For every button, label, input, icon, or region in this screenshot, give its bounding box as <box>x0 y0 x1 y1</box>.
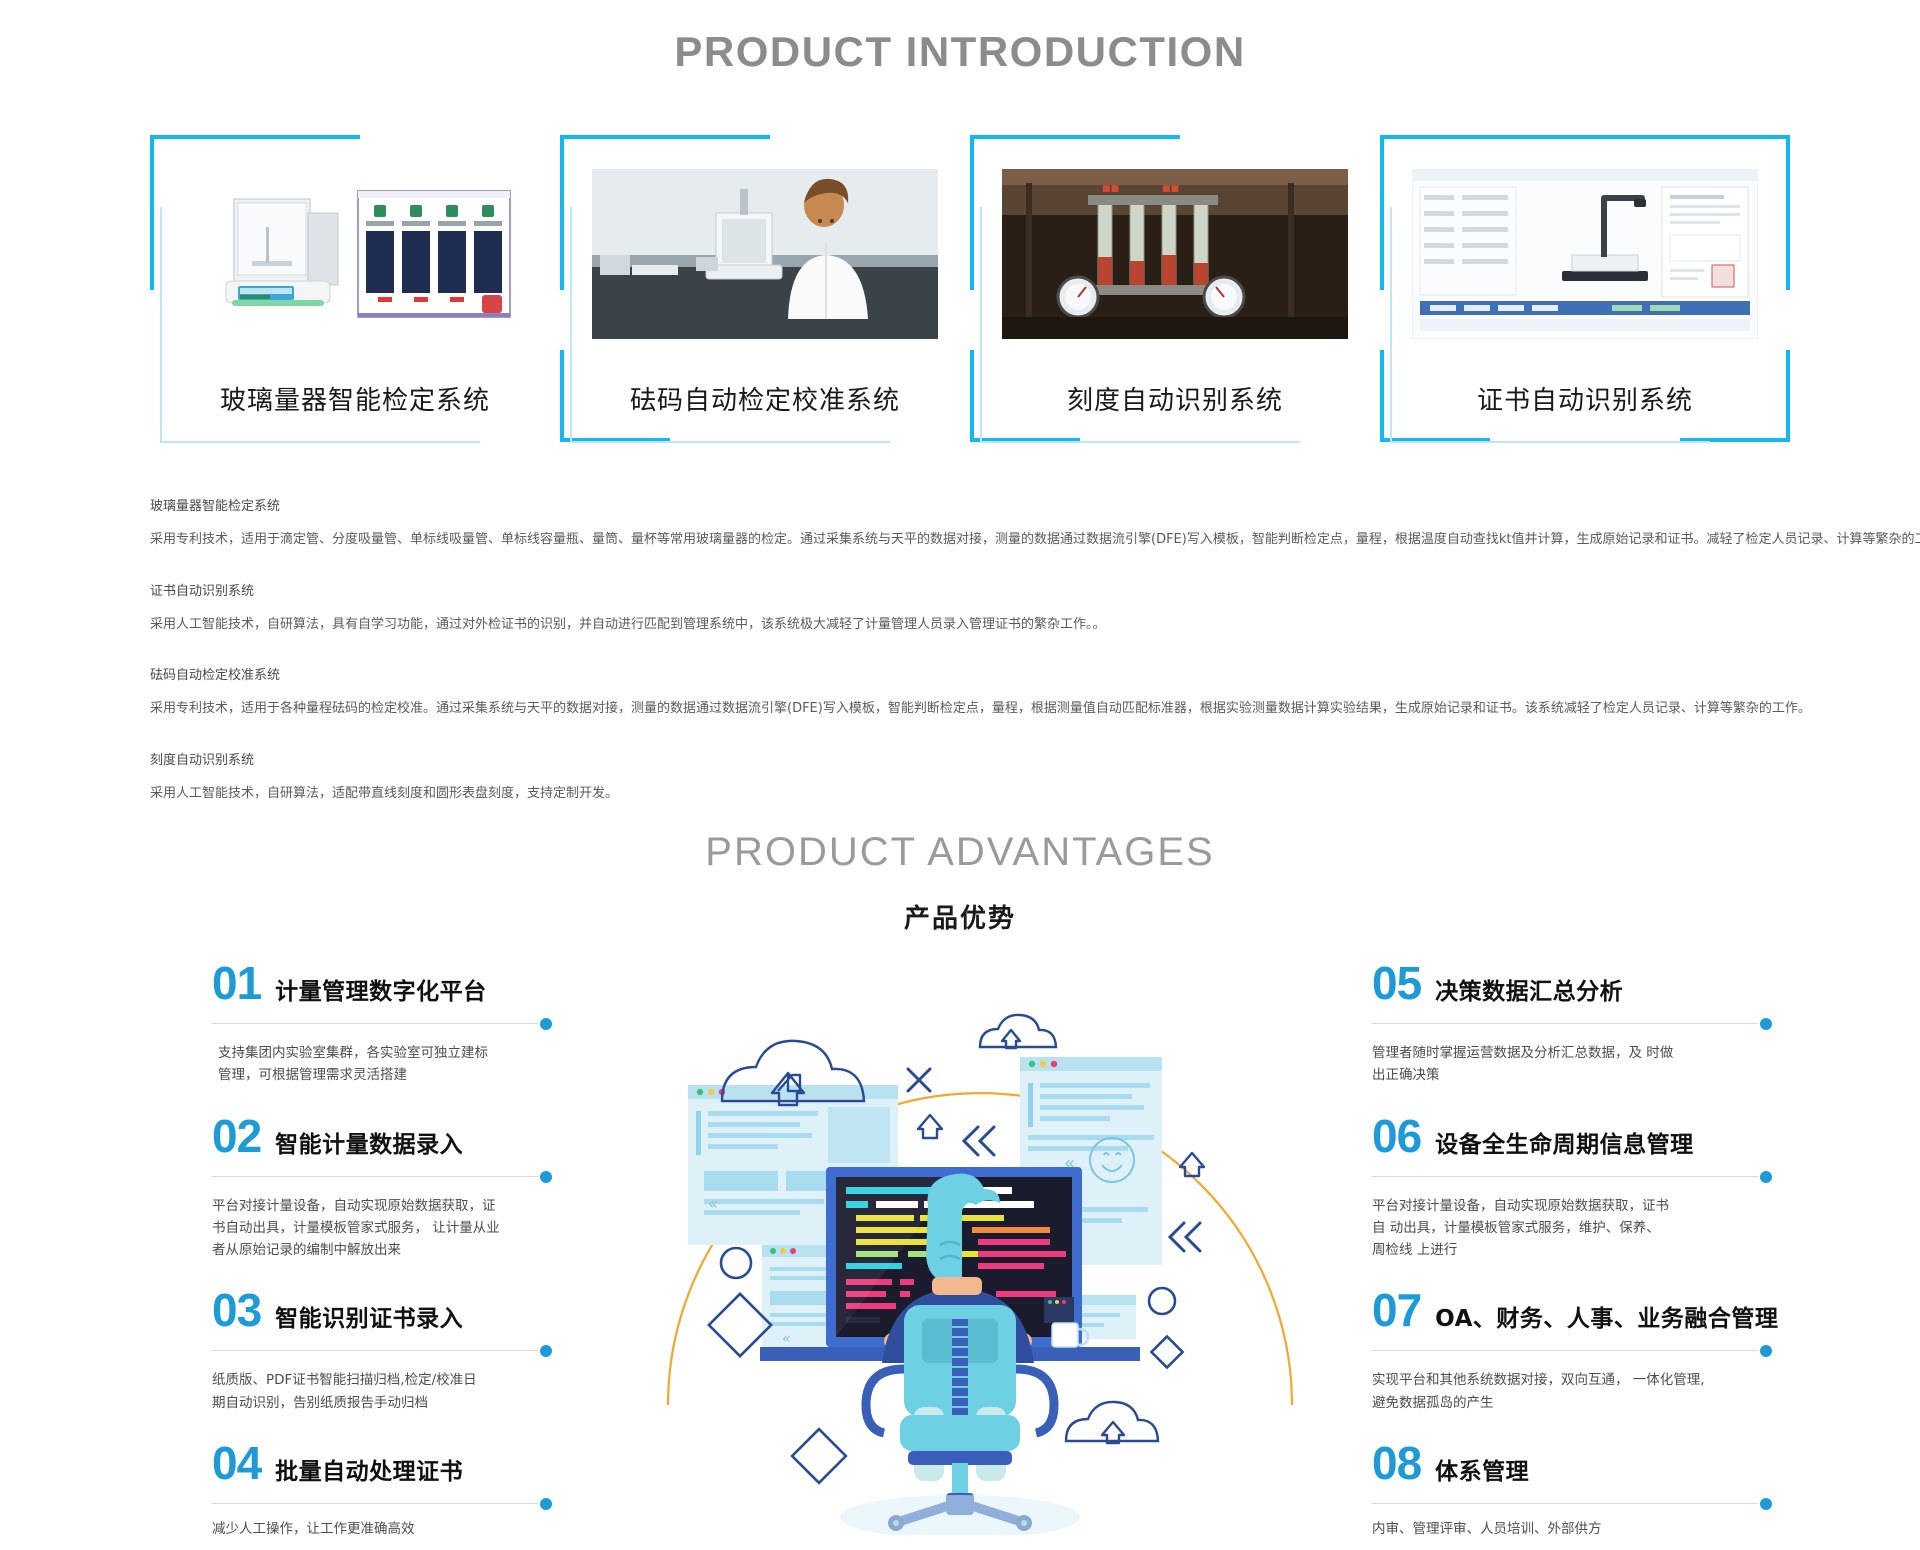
bracket-left <box>1380 135 1384 290</box>
description-body: 采用人工智能技术，自研算法，具有自学习功能，通过对外检证书的识别，并自动进行匹配… <box>150 615 1790 635</box>
bracket-bottom-thin <box>160 441 480 443</box>
product-card-1-title: 玻璃量器智能检定系统 <box>150 380 560 417</box>
bracket-top-left <box>970 135 1180 139</box>
advantage-header: 03 智能识别证书录入 <box>212 1287 552 1333</box>
rule-dot-icon <box>1760 1345 1772 1357</box>
description-group-4: 刻度自动识别系统 采用人工智能技术，自研算法，适配带直线刻度和圆形表盘刻度，支持… <box>150 749 1790 804</box>
rule-dot-icon <box>1760 1018 1772 1030</box>
advantage-header: 08 体系管理 <box>1372 1440 1772 1486</box>
advantage-description: 管理者随时掌握运营数据及分析汇总数据，及 时做 出正确决策 <box>1372 1042 1772 1087</box>
bracket-bottom-thin <box>980 441 1300 443</box>
advantage-number: 02 <box>212 1113 261 1159</box>
product-descriptions: 玻璃量器智能检定系统 采用专利技术，适用于滴定管、分度吸量管、单标线吸量管、单标… <box>150 495 1790 833</box>
advantage-item-07[interactable]: 07 OA、财务、人事、业务融合管理 实现平台和其他系统数据对接，双向互通， 一… <box>1372 1287 1772 1414</box>
rule-line <box>212 1023 538 1024</box>
page-subtitle-product-advantages: 产品优势 <box>0 898 1920 935</box>
advantage-number: 01 <box>212 960 261 1006</box>
advantage-item-05[interactable]: 05 决策数据汇总分析 管理者随时掌握运营数据及分析汇总数据，及 时做 出正确决… <box>1372 960 1772 1087</box>
rule-line <box>212 1503 538 1504</box>
advantages-right-column: 05 决策数据汇总分析 管理者随时掌握运营数据及分析汇总数据，及 时做 出正确决… <box>1372 960 1772 1548</box>
rule-dot-icon <box>540 1345 552 1357</box>
product-card-3-image: ■■■■ <box>1002 169 1348 339</box>
svg-text:«: « <box>708 1194 718 1213</box>
advantage-item-06[interactable]: 06 设备全生命周期信息管理 平台对接计量设备，自动实现原始数据获取，证书 自 … <box>1372 1113 1772 1262</box>
product-card-3[interactable]: ■■■■ 刻度自动识别系统 <box>970 135 1380 445</box>
advantage-description: 支持集团内实验室集群，各实验室可独立建标 管理，可根据管理需求灵活搭建 <box>212 1042 552 1087</box>
advantage-description: 纸质版、PDF证书智能扫描归档,检定/校准日 期自动识别，告别纸质报告手动归档 <box>212 1369 552 1414</box>
description-heading: 刻度自动识别系统 <box>150 749 1790 768</box>
advantage-description: 减少人工操作，让工作更准确高效 <box>212 1518 552 1540</box>
lab-technician-with-balance-photo-icon <box>592 169 938 339</box>
advantage-rule <box>212 1343 552 1359</box>
bracket-top-left <box>1380 135 1590 139</box>
advantage-label: 批量自动处理证书 <box>275 1452 463 1486</box>
rule-dot-icon <box>540 1171 552 1183</box>
bracket-top-right <box>1580 135 1790 139</box>
product-card-4[interactable]: 证书自动识别系统 <box>1380 135 1790 445</box>
rule-line <box>1372 1023 1758 1024</box>
advantage-rule <box>1372 1343 1772 1359</box>
bracket-left <box>970 135 974 290</box>
gauge-calibration-rig-photo-icon: ■■■■ <box>1002 169 1348 339</box>
bracket-top-left <box>150 135 360 139</box>
description-heading: 证书自动识别系统 <box>150 580 1790 599</box>
advantage-rule <box>212 1169 552 1185</box>
advantage-description: 平台对接计量设备，自动实现原始数据获取，证 书自动出具，计量模板管家式服务， 让… <box>212 1195 552 1262</box>
advantage-number: 03 <box>212 1287 261 1333</box>
product-card-3-title: 刻度自动识别系统 <box>970 380 1380 417</box>
advantage-header: 07 OA、财务、人事、业务融合管理 <box>1372 1287 1772 1333</box>
advantage-item-03[interactable]: 03 智能识别证书录入 纸质版、PDF证书智能扫描归档,检定/校准日 期自动识别… <box>212 1287 552 1414</box>
advantage-label: 计量管理数字化平台 <box>275 972 487 1006</box>
advantage-description: 实现平台和其他系统数据对接，双向互通， 一体化管理, 避免数据孤岛的产生 <box>1372 1369 1772 1414</box>
advantage-header: 02 智能计量数据录入 <box>212 1113 552 1159</box>
rule-dot-icon <box>1760 1498 1772 1510</box>
balance-and-software-screenshot-icon <box>182 169 528 339</box>
advantages-left-column: 01 计量管理数字化平台 支持集团内实验室集群，各实验室可独立建标 管理，可根据… <box>212 960 552 1548</box>
product-card-4-image <box>1412 169 1758 339</box>
svg-text:■■: ■■ <box>1102 184 1119 194</box>
description-group-3: 砝码自动检定校准系统 采用专利技术，适用于各种量程砝码的检定校准。通过采集系统与… <box>150 664 1790 719</box>
advantage-number: 04 <box>212 1440 261 1486</box>
description-body: 采用专利技术，适用于滴定管、分度吸量管、单标线吸量管、单标线容量瓶、量筒、量杯等… <box>150 530 1790 550</box>
developer-at-desk-with-monitor-and-windows-icon: « « <box>660 945 1300 1535</box>
advantage-number: 05 <box>1372 960 1421 1006</box>
description-group-2: 证书自动识别系统 采用人工智能技术，自研算法，具有自学习功能，通过对外检证书的识… <box>150 580 1790 635</box>
svg-text:■■: ■■ <box>1162 184 1179 194</box>
product-card-4-title: 证书自动识别系统 <box>1380 380 1790 417</box>
advantage-label: 智能识别证书录入 <box>275 1299 463 1333</box>
advantage-label: 体系管理 <box>1435 1452 1529 1486</box>
advantage-rule <box>1372 1016 1772 1032</box>
advantage-item-02[interactable]: 02 智能计量数据录入 平台对接计量设备，自动实现原始数据获取，证 书自动出具，… <box>212 1113 552 1262</box>
advantage-header: 01 计量管理数字化平台 <box>212 960 552 1006</box>
product-card-1-image <box>182 169 528 339</box>
description-heading: 砝码自动检定校准系统 <box>150 664 1790 683</box>
rule-dot-icon <box>540 1498 552 1510</box>
certificate-scanner-software-screenshot-icon <box>1412 169 1758 339</box>
page-title-product-introduction: PRODUCT INTRODUCTION <box>0 28 1920 76</box>
product-card-2-title: 砝码自动检定校准系统 <box>560 380 970 417</box>
svg-text:«: « <box>782 1331 791 1347</box>
advantage-header: 05 决策数据汇总分析 <box>1372 960 1772 1006</box>
advantage-rule <box>1372 1496 1772 1512</box>
advantage-item-01[interactable]: 01 计量管理数字化平台 支持集团内实验室集群，各实验室可独立建标 管理，可根据… <box>212 960 552 1087</box>
rule-line <box>1372 1350 1758 1351</box>
advantage-label: 决策数据汇总分析 <box>1435 972 1623 1006</box>
description-body: 采用专利技术，适用于各种量程砝码的检定校准。通过采集系统与天平的数据对接，测量的… <box>150 699 1790 719</box>
rule-dot-icon <box>1760 1171 1772 1183</box>
product-card-1[interactable]: 玻璃量器智能检定系统 <box>150 135 560 445</box>
advantage-header: 04 批量自动处理证书 <box>212 1440 552 1486</box>
bracket-right <box>1786 135 1790 290</box>
bracket-bottom-thin <box>570 441 890 443</box>
bracket-bottom-thin <box>1390 441 1710 443</box>
advantage-description: 内审、管理评审、人员培训、外部供方 <box>1372 1518 1772 1540</box>
rule-line <box>212 1350 538 1351</box>
product-page: PRODUCT INTRODUCTION <box>0 0 1920 1550</box>
advantage-label: 智能计量数据录入 <box>275 1125 463 1159</box>
developer-at-desk-illustration: « « <box>660 945 1300 1535</box>
rule-line <box>212 1176 538 1177</box>
product-card-2-image <box>592 169 938 339</box>
advantage-item-08[interactable]: 08 体系管理 内审、管理评审、人员培训、外部供方 <box>1372 1440 1772 1540</box>
advantage-number: 07 <box>1372 1287 1421 1333</box>
bracket-left <box>150 135 154 290</box>
product-card-strip: 玻璃量器智能检定系统 <box>150 135 1790 445</box>
advantage-label: OA、财务、人事、业务融合管理 <box>1435 1299 1778 1333</box>
rule-dot-icon <box>540 1018 552 1030</box>
advantage-rule <box>212 1496 552 1512</box>
description-body: 采用人工智能技术，自研算法，适配带直线刻度和圆形表盘刻度，支持定制开发。 <box>150 784 1790 804</box>
advantage-item-04[interactable]: 04 批量自动处理证书 减少人工操作，让工作更准确高效 <box>212 1440 552 1540</box>
advantage-label: 设备全生命周期信息管理 <box>1435 1125 1694 1159</box>
rule-line <box>1372 1176 1758 1177</box>
advantage-rule <box>1372 1169 1772 1185</box>
page-title-product-advantages: PRODUCT ADVANTAGES <box>0 830 1920 875</box>
description-group-1: 玻璃量器智能检定系统 采用专利技术，适用于滴定管、分度吸量管、单标线吸量管、单标… <box>150 495 1790 550</box>
advantage-number: 08 <box>1372 1440 1421 1486</box>
product-card-2[interactable]: 砝码自动检定校准系统 <box>560 135 970 445</box>
advantage-number: 06 <box>1372 1113 1421 1159</box>
advantage-rule <box>212 1016 552 1032</box>
advantage-description: 平台对接计量设备，自动实现原始数据获取，证书 自 动出具，计量模板管家式服务，维… <box>1372 1195 1772 1262</box>
advantage-header: 06 设备全生命周期信息管理 <box>1372 1113 1772 1159</box>
rule-line <box>1372 1503 1758 1504</box>
description-heading: 玻璃量器智能检定系统 <box>150 495 1790 514</box>
bracket-top-left <box>560 135 770 139</box>
bracket-left <box>560 135 564 290</box>
